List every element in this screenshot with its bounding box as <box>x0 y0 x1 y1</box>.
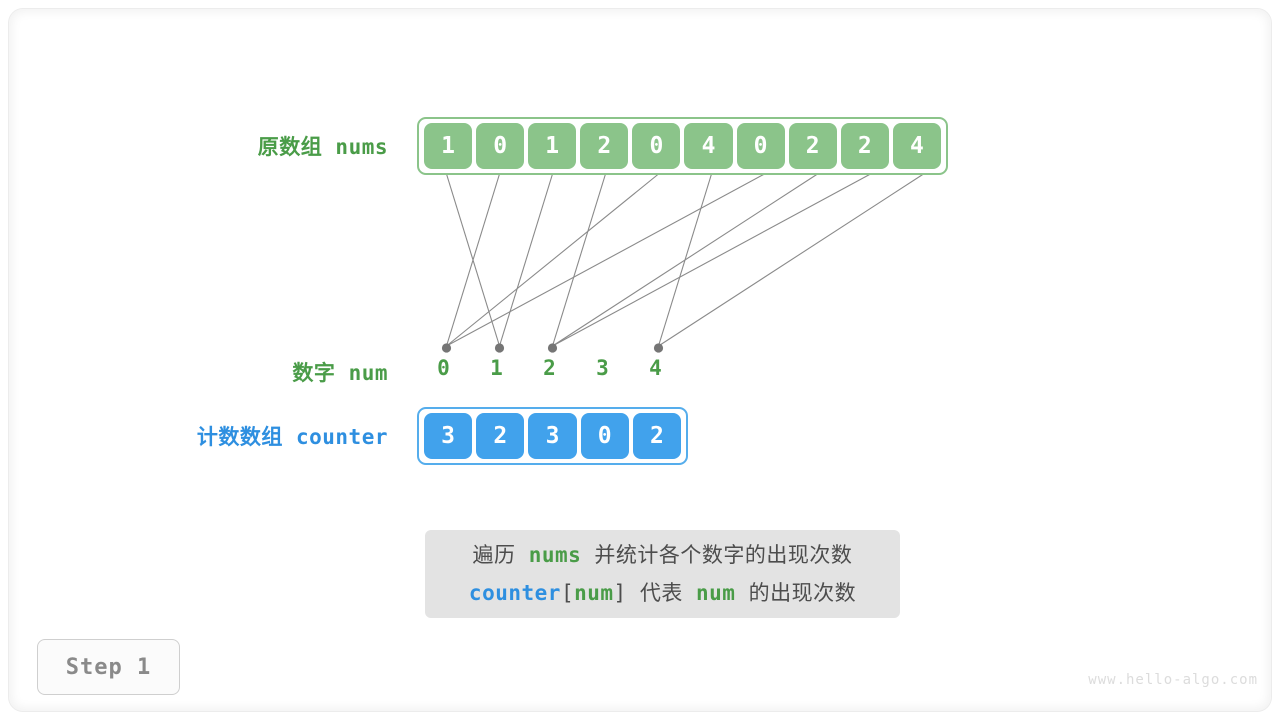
label-counter: 计数数组 counter <box>0 421 388 451</box>
counter-cell: 0 <box>581 413 629 459</box>
counter-cell: 2 <box>476 413 524 459</box>
nums-cell: 1 <box>424 123 472 169</box>
num-axis-tick: 2 <box>523 356 576 380</box>
counter-cell: 2 <box>633 413 681 459</box>
label-num: 数字 num <box>0 357 388 387</box>
caption-line1-pre: 遍历 <box>473 543 529 567</box>
nums-cell: 0 <box>632 123 680 169</box>
nums-cell: 0 <box>737 123 785 169</box>
num-axis-dot <box>654 343 663 352</box>
caption-line2-mid: 代表 <box>627 581 696 605</box>
nums-cell: 4 <box>893 123 941 169</box>
caption-line2-num2: num <box>696 581 735 605</box>
mapping-line <box>500 174 553 346</box>
num-axis-dot <box>495 343 504 352</box>
caption-line-2: counter[num] 代表 num 的出现次数 <box>469 574 856 612</box>
num-axis-tick: 4 <box>629 356 682 380</box>
nums-cell: 1 <box>528 123 576 169</box>
num-axis-tick: 0 <box>417 356 470 380</box>
num-axis: 01234 <box>417 356 688 386</box>
caption-line2-counter: counter <box>469 581 561 605</box>
figure-canvas: 原数组 nums 1012040224 数字 num 01234 计数数组 co… <box>0 0 1280 720</box>
num-axis-dot <box>442 343 451 352</box>
caption-line2-bracket-open: [ <box>561 581 574 605</box>
caption-line2-bracket-close: ] <box>614 581 627 605</box>
num-axis-dot <box>548 343 557 352</box>
nums-array: 1012040224 <box>417 117 948 175</box>
mapping-line <box>553 174 871 346</box>
mapping-line <box>553 174 606 346</box>
step-badge: Step 1 <box>37 639 180 695</box>
counter-cell: 3 <box>528 413 576 459</box>
caption-box: 遍历 nums 并统计各个数字的出现次数 counter[num] 代表 num… <box>425 530 900 618</box>
counter-array: 32302 <box>417 407 688 465</box>
caption-line2-num: num <box>574 581 613 605</box>
caption-line2-post: 的出现次数 <box>735 581 856 605</box>
nums-cell: 2 <box>789 123 837 169</box>
watermark: www.hello-algo.com <box>1088 672 1258 688</box>
counter-cell: 3 <box>424 413 472 459</box>
nums-cell: 4 <box>684 123 732 169</box>
nums-cell: 2 <box>841 123 889 169</box>
num-axis-tick: 3 <box>576 356 629 380</box>
mapping-line <box>553 174 818 346</box>
caption-line-1: 遍历 nums 并统计各个数字的出现次数 <box>473 536 853 574</box>
nums-cell: 2 <box>580 123 628 169</box>
mapping-line <box>447 174 659 346</box>
caption-line1-keyword: nums <box>529 543 582 567</box>
num-axis-tick: 1 <box>470 356 523 380</box>
caption-line1-post: 并统计各个数字的出现次数 <box>581 543 852 567</box>
mapping-line <box>447 174 765 346</box>
nums-cell: 0 <box>476 123 524 169</box>
mapping-line <box>659 174 924 346</box>
label-nums: 原数组 nums <box>0 131 388 161</box>
